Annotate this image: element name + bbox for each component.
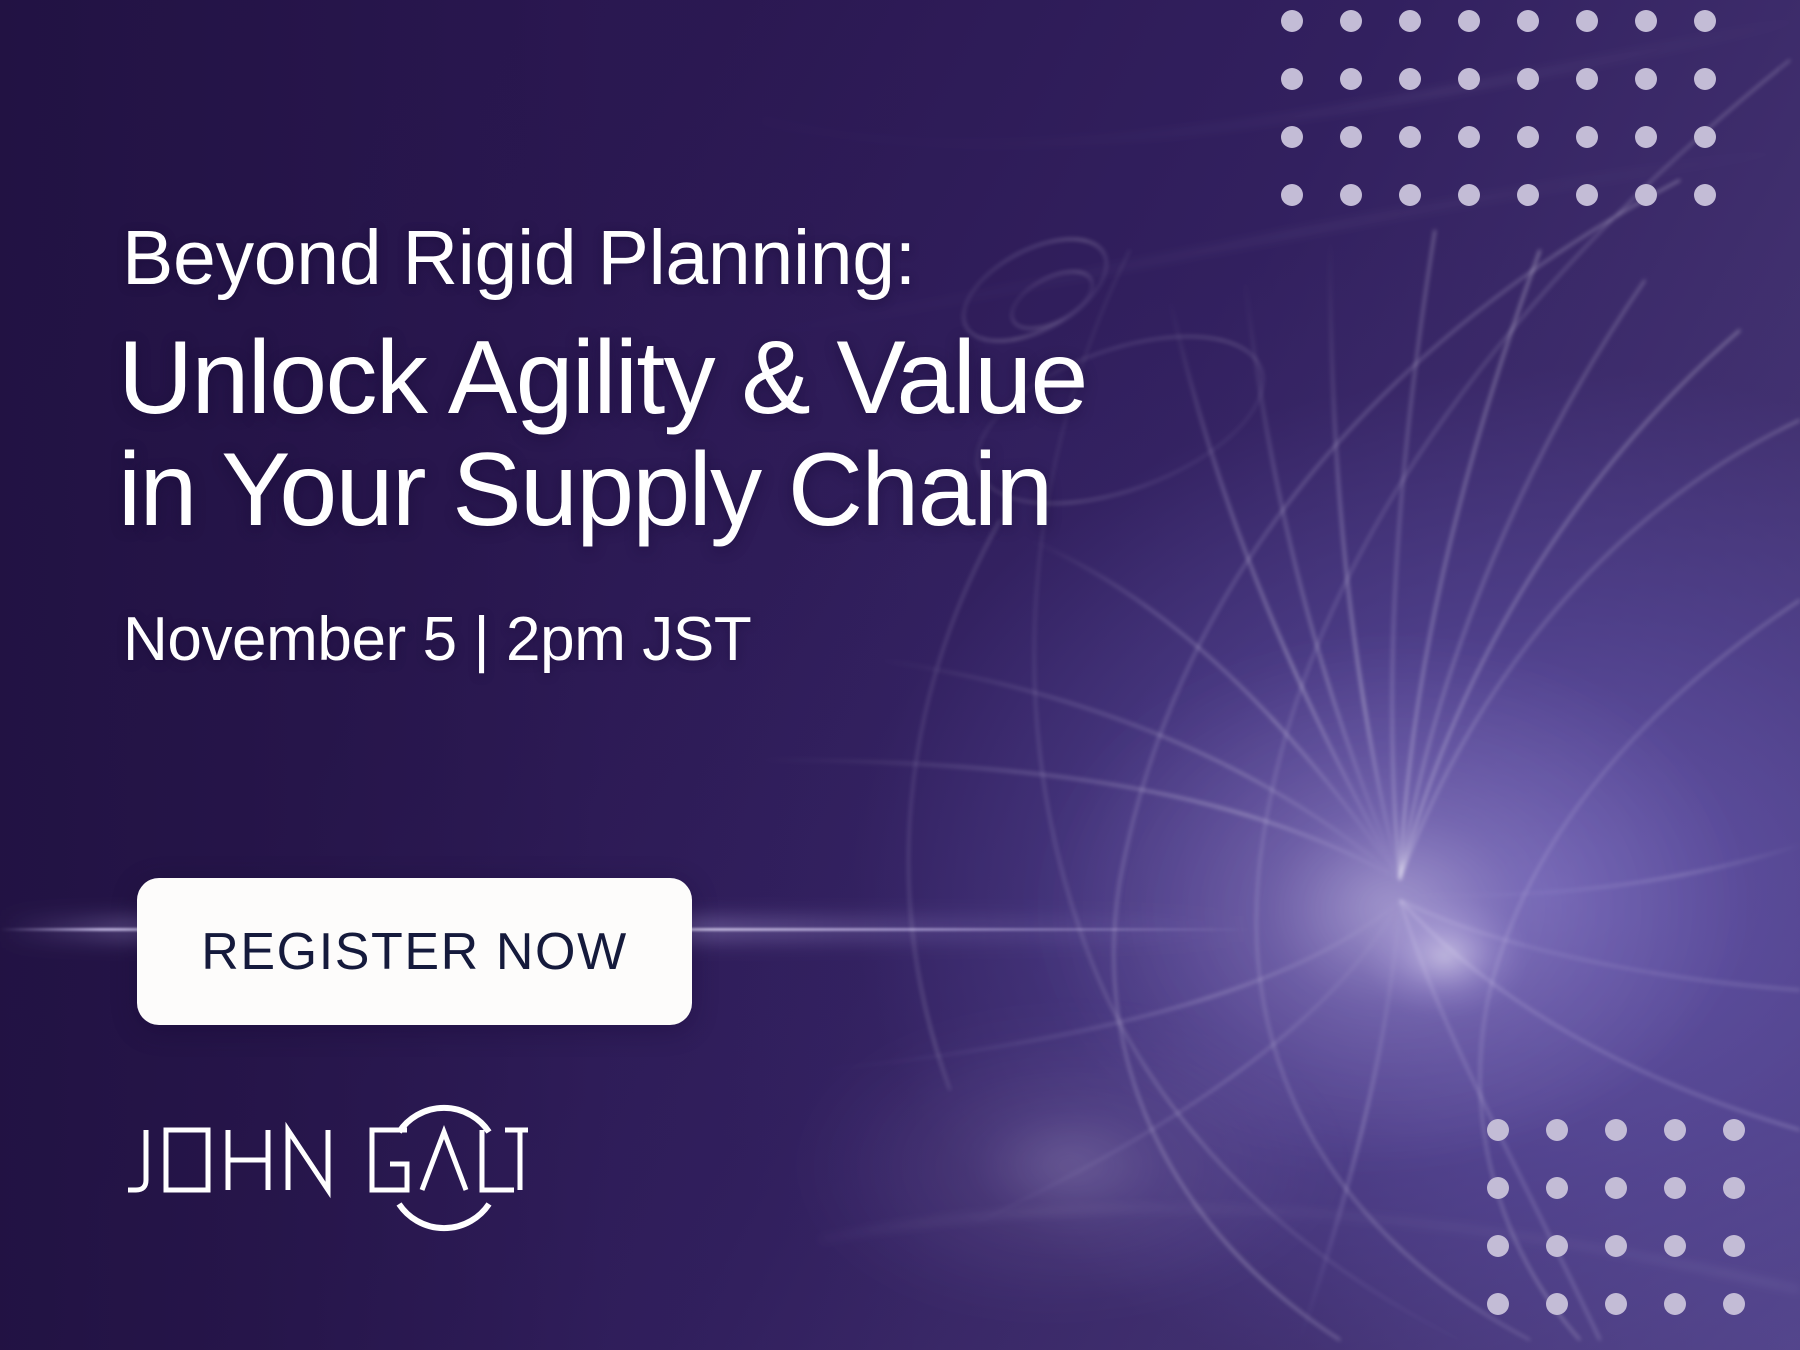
decorative-dot bbox=[1487, 1119, 1509, 1141]
decorative-dot bbox=[1576, 184, 1598, 206]
decorative-dot bbox=[1605, 1177, 1627, 1199]
decorative-dot bbox=[1487, 1177, 1509, 1199]
register-now-label: REGISTER NOW bbox=[201, 922, 628, 982]
headline: Unlock Agility & Value in Your Supply Ch… bbox=[118, 322, 1087, 547]
decorative-dot bbox=[1664, 1119, 1686, 1141]
decorative-dot bbox=[1723, 1235, 1745, 1257]
decorative-dot bbox=[1458, 68, 1480, 90]
decorative-dot bbox=[1517, 184, 1539, 206]
decorative-dot bbox=[1635, 184, 1657, 206]
decorative-dot bbox=[1723, 1119, 1745, 1141]
decorative-dot bbox=[1458, 184, 1480, 206]
decorative-dot bbox=[1694, 126, 1716, 148]
webinar-promo-poster: Beyond Rigid Planning: Unlock Agility & … bbox=[0, 0, 1800, 1350]
decorative-dot bbox=[1694, 10, 1716, 32]
decorative-dot bbox=[1458, 126, 1480, 148]
eyebrow-text: Beyond Rigid Planning: bbox=[122, 218, 916, 298]
decorative-dot bbox=[1458, 10, 1480, 32]
decorative-dot bbox=[1546, 1177, 1568, 1199]
decorative-dot bbox=[1605, 1293, 1627, 1315]
logo-word-galt bbox=[372, 1130, 528, 1190]
decorative-dot bbox=[1487, 1235, 1509, 1257]
decorative-dot bbox=[1723, 1177, 1745, 1199]
headline-line-1: Unlock Agility & Value bbox=[118, 322, 1087, 434]
decorative-dot bbox=[1635, 10, 1657, 32]
headline-line-2: in Your Supply Chain bbox=[118, 434, 1087, 546]
event-datetime: November 5 | 2pm JST bbox=[123, 606, 751, 674]
decorative-dot bbox=[1694, 184, 1716, 206]
poster-content: Beyond Rigid Planning: Unlock Agility & … bbox=[122, 0, 1442, 1350]
register-now-button[interactable]: REGISTER NOW bbox=[137, 878, 692, 1025]
dot-grid-bottom-right bbox=[1487, 1119, 1782, 1350]
logo-word-john bbox=[128, 1130, 328, 1190]
john-galt-logo: .lg-txt { font-family: "Liberation Sans"… bbox=[122, 1092, 530, 1250]
decorative-dot bbox=[1517, 126, 1539, 148]
decorative-dot bbox=[1546, 1293, 1568, 1315]
decorative-dot bbox=[1664, 1235, 1686, 1257]
decorative-dot bbox=[1664, 1293, 1686, 1315]
decorative-dot bbox=[1546, 1235, 1568, 1257]
decorative-dot bbox=[1664, 1177, 1686, 1199]
decorative-dot bbox=[1605, 1235, 1627, 1257]
decorative-dot bbox=[1723, 1293, 1745, 1315]
decorative-dot bbox=[1635, 126, 1657, 148]
decorative-dot bbox=[1576, 126, 1598, 148]
decorative-dot bbox=[1487, 1293, 1509, 1315]
decorative-dot bbox=[1576, 10, 1598, 32]
decorative-dot bbox=[1635, 68, 1657, 90]
decorative-dot bbox=[1605, 1119, 1627, 1141]
decorative-dot bbox=[1546, 1119, 1568, 1141]
decorative-dot bbox=[1576, 68, 1598, 90]
decorative-dot bbox=[1694, 68, 1716, 90]
decorative-dot bbox=[1517, 10, 1539, 32]
decorative-dot bbox=[1517, 68, 1539, 90]
